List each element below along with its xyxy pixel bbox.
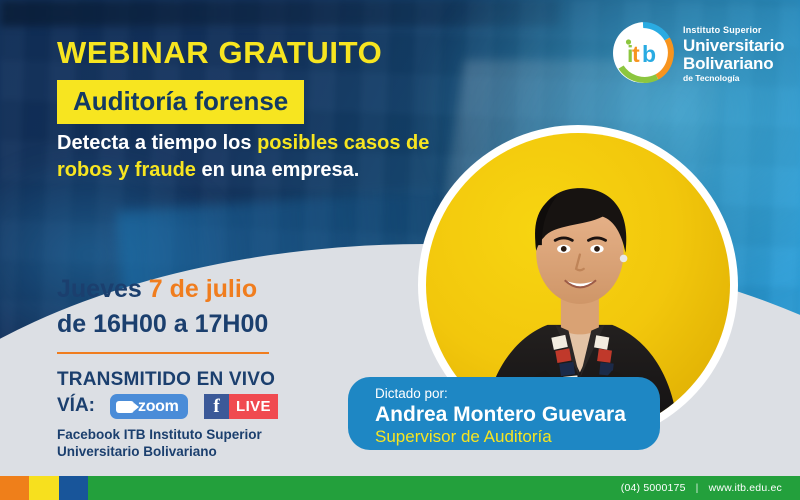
speaker-card: Dictado por: Andrea Montero Guevara Supe…: [348, 377, 660, 450]
footer-phone: (04) 5000175: [621, 482, 686, 494]
footer-contact: (04) 5000175 | www.itb.edu.ec: [621, 476, 782, 500]
footer-swatch-yellow: [29, 476, 59, 500]
topic-highlight-box: Auditoría forense: [57, 80, 304, 124]
zoom-label: zoom: [138, 398, 179, 416]
event-time: de 16H00 a 17H00: [57, 310, 268, 339]
topic-label: Auditoría forense: [73, 86, 288, 116]
logo-line-4: de Tecnología: [683, 74, 784, 83]
footer-separator: |: [696, 482, 699, 494]
facebook-live-label: LIVE: [229, 394, 278, 419]
broadcast-title: TRANSMITIDO EN VIVO: [57, 369, 275, 391]
page-title: WEBINAR GRATUITO: [57, 35, 382, 71]
speaker-prefix: Dictado por:: [375, 386, 448, 401]
subheadline-part-2: en una empresa.: [196, 159, 359, 181]
subheadline: Detecta a tiempo los posibles casos de r…: [57, 130, 477, 183]
speaker-role: Supervisor de Auditoría: [375, 427, 552, 447]
footer-bar: (04) 5000175 | www.itb.edu.ec: [0, 476, 800, 500]
svg-text:b: b: [642, 41, 656, 67]
logo-line-1: Instituto Superior: [683, 26, 784, 35]
svg-text:t: t: [632, 41, 640, 67]
footer-website[interactable]: www.itb.edu.ec: [709, 482, 782, 494]
divider: [57, 352, 269, 354]
itb-logo-mark-icon: i t b: [612, 22, 674, 84]
zoom-badge[interactable]: zoom: [110, 394, 188, 419]
facebook-icon: f: [204, 394, 229, 419]
video-camera-icon: [116, 401, 134, 413]
broadcast-via-label: VÍA:: [57, 395, 95, 417]
broadcast-channel-note: Facebook ITB Instituto Superior Universi…: [57, 427, 327, 461]
itb-logo-wordmark: Instituto Superior Universitario Bolivar…: [683, 24, 784, 83]
itb-logo: i t b Instituto Superior Universitario B…: [612, 22, 784, 84]
footer-swatch-orange: [0, 476, 29, 500]
itb-roundel-icon: i t b: [612, 22, 674, 84]
event-day-label: Jueves: [57, 275, 149, 303]
event-date-accent: 7 de julio: [149, 275, 257, 303]
speaker-name: Andrea Montero Guevara: [375, 403, 626, 427]
event-date: Jueves 7 de julio: [57, 275, 257, 304]
footer-swatch-blue: [59, 476, 88, 500]
webinar-poster: WEBINAR GRATUITO Auditoría forense Detec…: [0, 0, 800, 500]
logo-line-3: Bolivariano: [683, 55, 784, 72]
facebook-live-badge[interactable]: f LIVE: [204, 394, 278, 419]
subheadline-part-0: Detecta a tiempo los: [57, 132, 257, 154]
logo-line-2: Universitario: [683, 37, 784, 54]
